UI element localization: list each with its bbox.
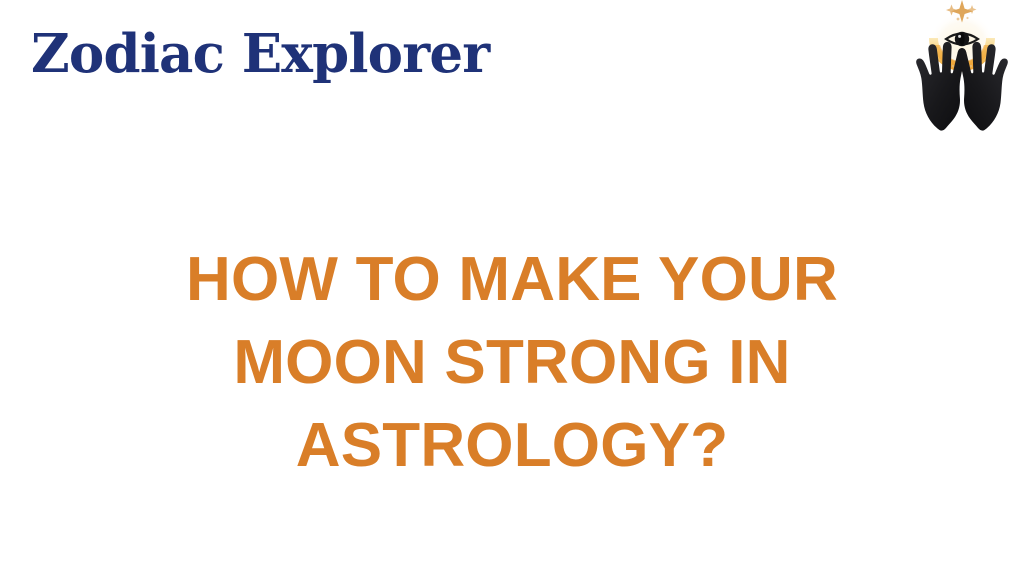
slide-canvas: Zodiac Explorer [0,0,1024,576]
page-title: HOW TO MAKE YOUR MOON STRONG IN ASTROLOG… [0,238,1024,487]
headline-line-2: MOON STRONG IN [0,321,1024,404]
brand-logo-mark[interactable] [898,0,1024,138]
headline-line-3: ASTROLOGY? [0,404,1024,487]
brand-wordmark[interactable]: Zodiac Explorer [31,28,489,81]
headline-line-1: HOW TO MAKE YOUR [0,238,1024,321]
